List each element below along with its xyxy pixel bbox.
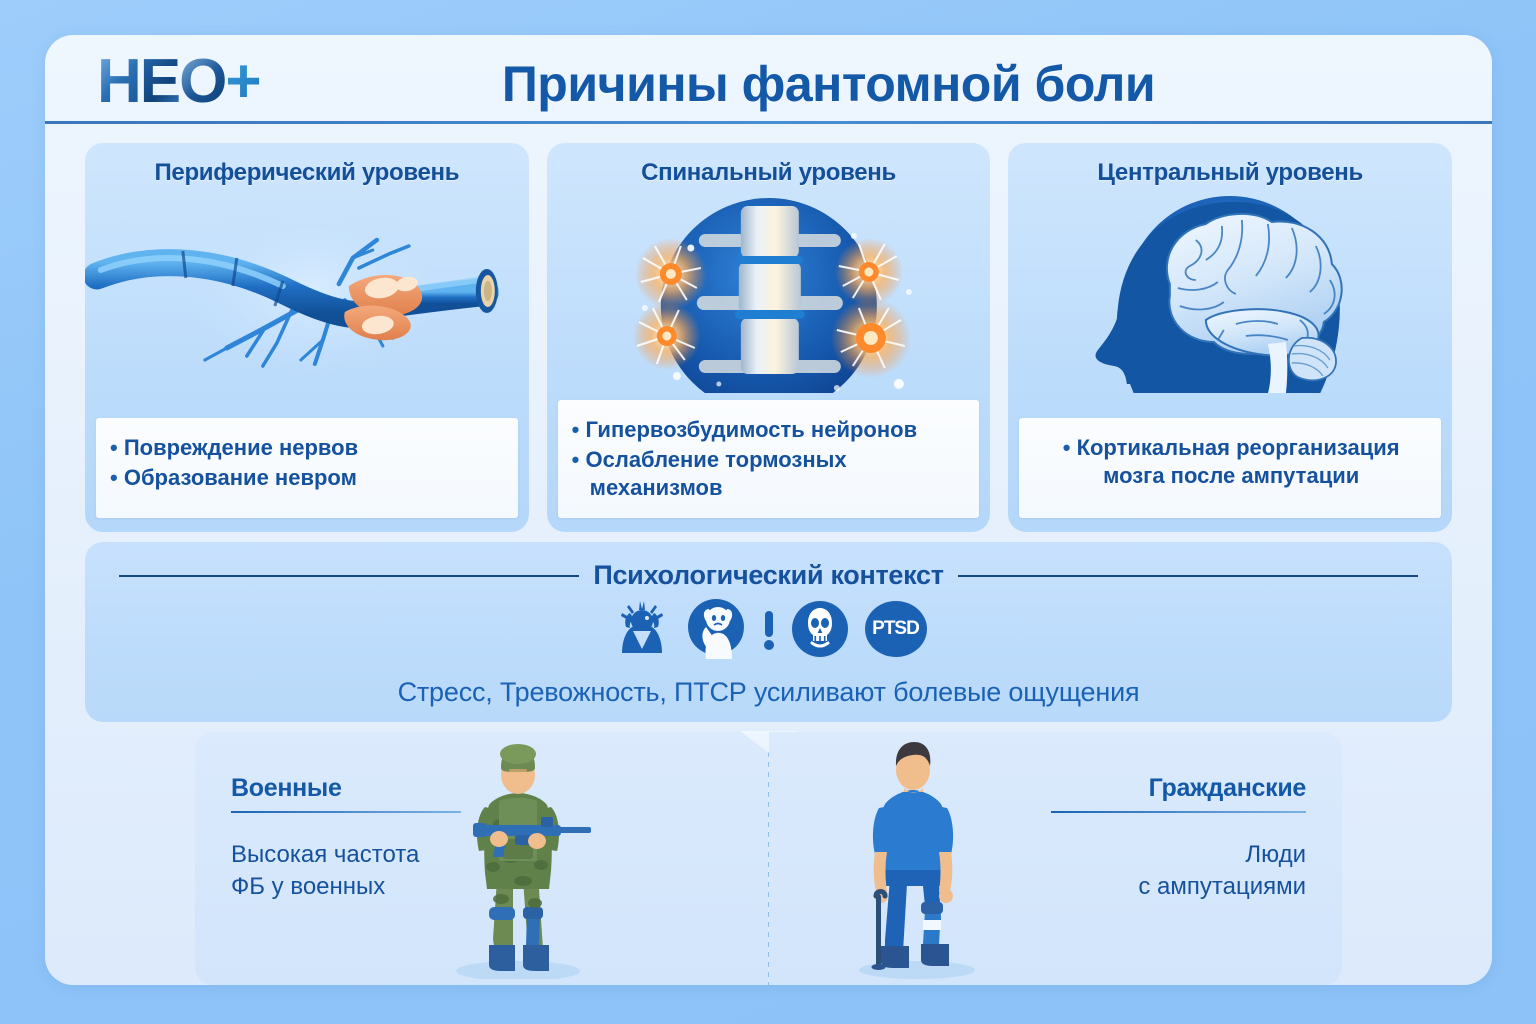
level-card-title: Спинальный уровень: [547, 142, 991, 187]
page-title: Причины фантомной боли: [45, 55, 1492, 113]
psych-subtitle: Стресс, Тревожность, ПТСР усиливают боле…: [85, 677, 1452, 708]
exclamation-mark: [762, 597, 776, 661]
group-description: Люди с ампутациями: [1051, 839, 1306, 904]
psychological-context-section: Психологический контекст: [85, 542, 1452, 722]
group-description-line1: Люди: [1051, 839, 1306, 871]
header-divider: [45, 121, 1492, 124]
damaged-nerve-illustration: [85, 188, 529, 393]
groups-row: Военные Высокая частота ФБ у военных: [195, 732, 1342, 985]
level-bullets: Повреждение нервов Образование невром: [96, 418, 518, 518]
level-bullets: Гипервозбудимость нейронов Ослабление то…: [558, 400, 980, 518]
bullet-item: Образование невром: [110, 464, 506, 492]
soldier-illustration: [423, 739, 613, 979]
group-panel-military[interactable]: Военные Высокая частота ФБ у военных: [195, 732, 768, 985]
main-board: НEO+ Причины фантомной боли Периферическ…: [45, 35, 1492, 985]
group-title: Гражданские: [1051, 774, 1306, 803]
bullet-item: Кортикальная реорганизация мозга после а…: [1033, 434, 1429, 490]
psych-title: Психологический контекст: [593, 560, 943, 591]
level-card-title: Периферический уровень: [85, 142, 529, 187]
ptsd-label: PTSD: [864, 597, 928, 661]
group-text-block: Гражданские Люди с ампутациями: [1051, 774, 1306, 904]
skull-icon: [788, 597, 852, 661]
group-rule: [1051, 811, 1306, 813]
level-card-spinal[interactable]: Спинальный уровень: [547, 142, 991, 532]
group-description-line2: с ампутациями: [1051, 871, 1306, 903]
psych-icon-row: PTSD: [85, 597, 1452, 661]
level-card-title: Центральный уровень: [1008, 142, 1452, 187]
brain-head-illustration: [1008, 188, 1452, 393]
spine-neurons-illustration: [547, 188, 991, 393]
stressed-person-icon: [610, 597, 674, 661]
level-card-peripheral[interactable]: Периферический уровень: [85, 142, 529, 532]
psych-rule-right: [958, 575, 1418, 577]
bullet-item: Гипервозбудимость нейронов: [572, 416, 968, 444]
infographic-page: НEO+ Причины фантомной боли Периферическ…: [0, 0, 1536, 1024]
group-panel-civilian[interactable]: Гражданские Люди с ампутациями: [769, 732, 1342, 985]
anxious-person-exclamation-icon: [686, 597, 750, 661]
levels-row: Периферический уровень: [85, 142, 1452, 532]
civilian-amputee-illustration: [829, 734, 1004, 979]
bullet-item: Ослабление тормозных механизмов: [572, 446, 968, 502]
level-bullets: Кортикальная реорганизация мозга после а…: [1019, 418, 1441, 518]
level-card-central[interactable]: Центральный уровень: [1008, 142, 1452, 532]
ptsd-badge-icon: PTSD: [864, 597, 928, 661]
header: НEO+ Причины фантомной боли: [45, 35, 1492, 123]
psych-header: Психологический контекст: [85, 560, 1452, 591]
bullet-item: Повреждение нервов: [110, 434, 506, 462]
psych-rule-left: [119, 575, 579, 577]
